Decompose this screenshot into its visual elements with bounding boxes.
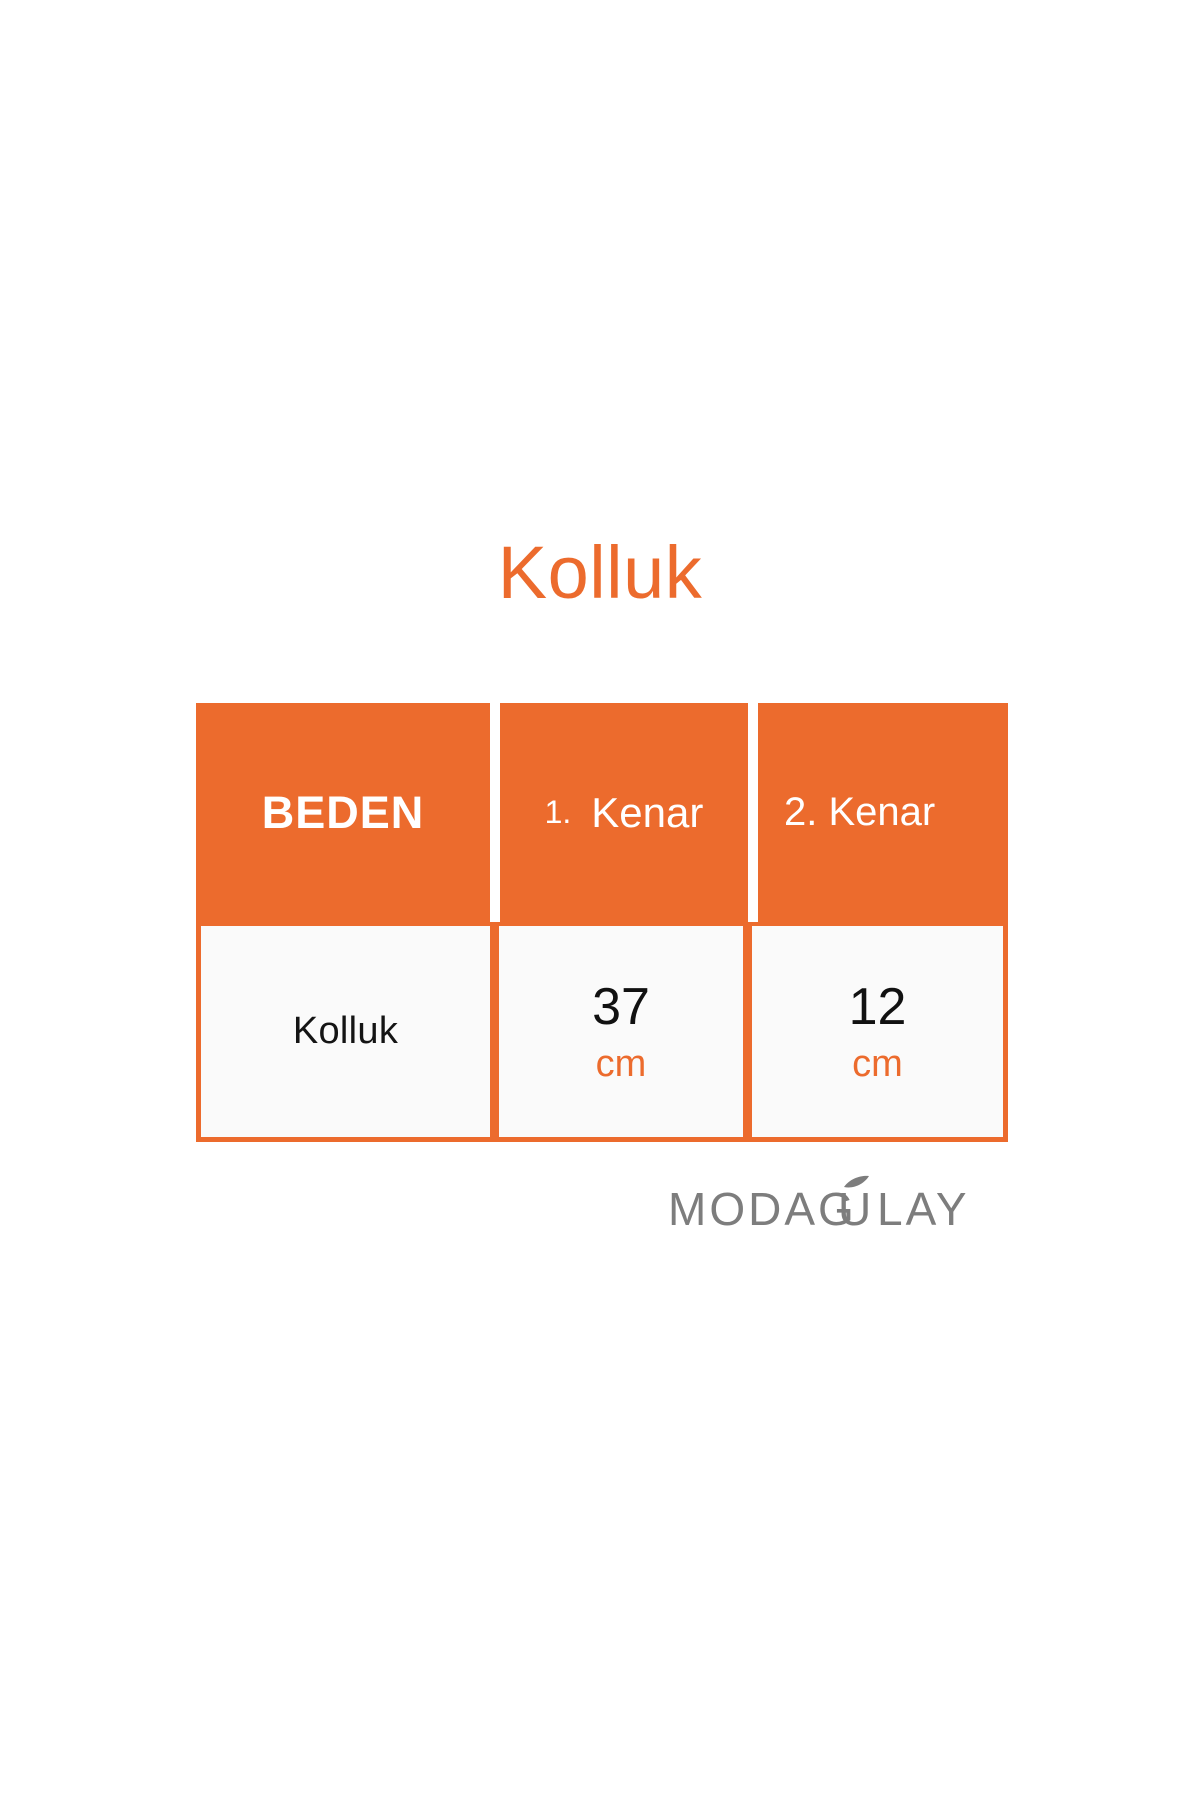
table-header-kenar-2: 2. Kenar (758, 703, 1008, 922)
table-cell-kenar-2: 12 cm (752, 926, 1003, 1137)
table-cell-kenar-2-value: 12 (849, 981, 907, 1033)
size-table: BEDEN 1. Kenar 2. Kenar Kolluk 37 cm 12 … (196, 703, 1008, 1142)
table-header-kenar-1-label: Kenar (591, 789, 703, 837)
brand-logo-text-part-a: MODAG (668, 1183, 857, 1235)
header-divider-2 (748, 703, 758, 922)
table-header-beden: BEDEN (196, 703, 490, 922)
size-chart-page: Kolluk BEDEN 1. Kenar 2. Kenar Kolluk 37… (0, 0, 1200, 1800)
header-divider-1 (490, 703, 500, 922)
table-cell-kenar-2-unit: cm (852, 1045, 903, 1083)
table-header-row: BEDEN 1. Kenar 2. Kenar (196, 703, 1008, 922)
brand-logo: MODAG U LAY (668, 1175, 1008, 1237)
brand-logo-text-part-u: U (838, 1183, 874, 1235)
table-cell-beden-label: Kolluk (293, 1010, 398, 1053)
page-title: Kolluk (0, 536, 1200, 610)
table-header-kenar-1-ordinal: 1. (545, 794, 572, 831)
brand-logo-text-part-b: LAY (877, 1183, 970, 1235)
table-header-kenar-1: 1. Kenar (500, 703, 748, 922)
table-cell-kenar-1-value: 37 (592, 981, 650, 1033)
table-cell-beden: Kolluk (201, 926, 490, 1137)
brand-logo-svg: MODAG U LAY (668, 1175, 1008, 1237)
table-cell-kenar-1-unit: cm (596, 1045, 647, 1083)
table-row: Kolluk 37 cm 12 cm (196, 922, 1008, 1142)
table-cell-kenar-1: 37 cm (499, 926, 743, 1137)
